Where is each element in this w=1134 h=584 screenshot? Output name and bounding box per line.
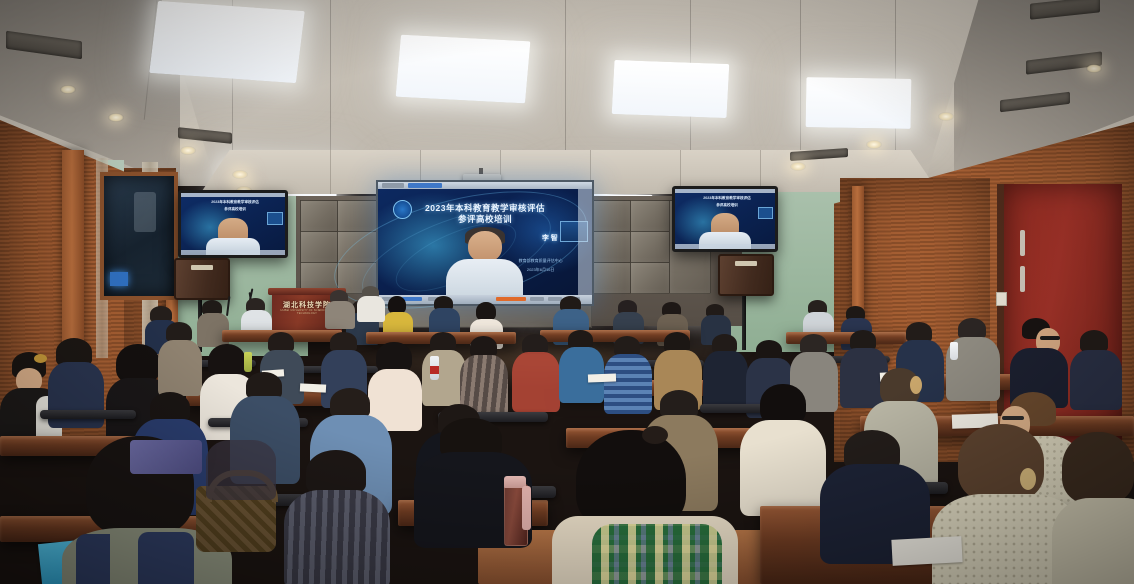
screen-title-line1: 2023年本科教育教学审核评估 <box>408 203 562 214</box>
stone-block <box>591 200 631 232</box>
stone-block <box>630 262 670 294</box>
chair-back <box>40 410 136 419</box>
stone-block <box>630 200 670 232</box>
downlight <box>1086 64 1102 73</box>
control-booth-window <box>100 172 178 300</box>
ceiling-light <box>612 60 730 118</box>
pa-speaker-right <box>718 254 774 296</box>
hair-bun <box>642 426 668 444</box>
side-monitor-right-toolbar <box>675 244 775 249</box>
stone-block <box>300 231 338 263</box>
plaid-vest <box>592 524 722 584</box>
ceiling-seam <box>565 0 566 150</box>
jacket-panel <box>138 532 194 584</box>
ceiling-light <box>149 1 305 83</box>
booth-monitor <box>110 272 128 286</box>
speaker-badge <box>735 261 758 266</box>
side-monitor-right-pip <box>758 207 773 219</box>
hair-clip <box>34 354 47 363</box>
app-tab[interactable] <box>382 183 404 188</box>
presenter-date: 2023年6月16日 <box>504 267 577 273</box>
water-bottle <box>950 342 958 360</box>
stone-block <box>300 200 338 232</box>
eyeglasses-icon <box>1040 336 1060 340</box>
screen-title-line2: 参评高校培训 <box>408 214 562 225</box>
side-monitor-right-content: 2023年本科教育教学审核评估 参评高校培训 <box>675 189 775 249</box>
ceiling <box>0 0 1134 186</box>
document-paper <box>300 383 326 392</box>
presenter-video <box>442 231 528 302</box>
presenter-head <box>468 231 502 262</box>
light-switch[interactable] <box>996 292 1007 306</box>
thermos-strap <box>522 486 531 530</box>
drink-bottle <box>244 352 252 372</box>
booth-glass-reflection <box>134 192 156 232</box>
ceiling-seam <box>800 0 801 150</box>
downlight <box>232 170 248 179</box>
ceiling-seam <box>330 0 331 150</box>
stone-block <box>591 231 631 263</box>
side-monitor-left-title-line1: 2023年本科教育教学审核评估 <box>204 200 266 205</box>
door-handle-icon[interactable] <box>1020 266 1025 292</box>
projection-screen: 2023年本科教育教学审核评估 参评高校培训 李 智 教育部教育质量评估中心 2… <box>376 180 594 306</box>
toolbar-button[interactable] <box>530 297 544 301</box>
side-monitor-left-toolbar <box>181 250 285 255</box>
ceiling-light <box>806 77 912 129</box>
presenter-affiliation: 教育部教育质量评估中心 <box>504 258 577 264</box>
jacket-panel <box>76 534 110 584</box>
stone-block <box>630 231 670 263</box>
downlight <box>790 162 806 171</box>
side-monitor-left-content: 2023年本科教育教学审核评估 参评高校培训 <box>181 193 285 255</box>
downlight <box>180 146 196 155</box>
hair-clip <box>1020 468 1036 490</box>
side-monitor-right-titlebar <box>675 189 775 193</box>
downlight <box>938 112 954 121</box>
pa-speaker-left <box>174 258 230 300</box>
stone-block <box>591 262 631 294</box>
eyeglasses-icon <box>1002 416 1024 420</box>
document-paper <box>891 536 962 566</box>
stone-block <box>337 200 377 232</box>
app-tab-active[interactable] <box>408 183 442 188</box>
side-monitor-right-title-line2: 参评高校培训 <box>697 203 757 208</box>
side-monitor-left-titlebar <box>181 193 285 197</box>
hair-tie <box>910 376 922 394</box>
screen-title: 2023年本科教育教学审核评估 参评高校培训 <box>408 203 562 225</box>
bottle-label <box>430 366 439 374</box>
toolbar-button-record[interactable] <box>496 297 526 301</box>
side-monitor-left: 2023年本科教育教学审核评估 参评高校培训 <box>178 190 288 258</box>
downlight <box>866 140 882 149</box>
side-monitor-right-title-line1: 2023年本科教育教学审核评估 <box>697 196 757 201</box>
document-paper <box>588 374 616 383</box>
door-handle-icon[interactable] <box>1020 230 1025 256</box>
side-monitor-left-pip <box>267 212 283 225</box>
participants-sidebar[interactable] <box>578 189 592 295</box>
speaker-badge <box>191 265 214 270</box>
ceiling-light <box>396 35 531 104</box>
side-monitor-right: 2023年本科教育教学审核评估 参评高校培训 <box>672 186 778 252</box>
folded-umbrella <box>130 440 202 474</box>
conference-hall-photo: 2023年本科教育教学审核评估 参评高校培训 李 智 教育部教育质量评估中心 2… <box>0 0 1134 584</box>
screen-app-titlebar <box>378 182 592 189</box>
downlight <box>60 85 76 94</box>
presenter-name: 李 智 <box>542 233 558 243</box>
downlight <box>108 113 124 122</box>
screen-content: 2023年本科教育教学审核评估 参评高校培训 李 智 教育部教育质量评估中心 2… <box>378 182 592 304</box>
side-monitor-left-title-line2: 参评高校培训 <box>204 207 266 212</box>
